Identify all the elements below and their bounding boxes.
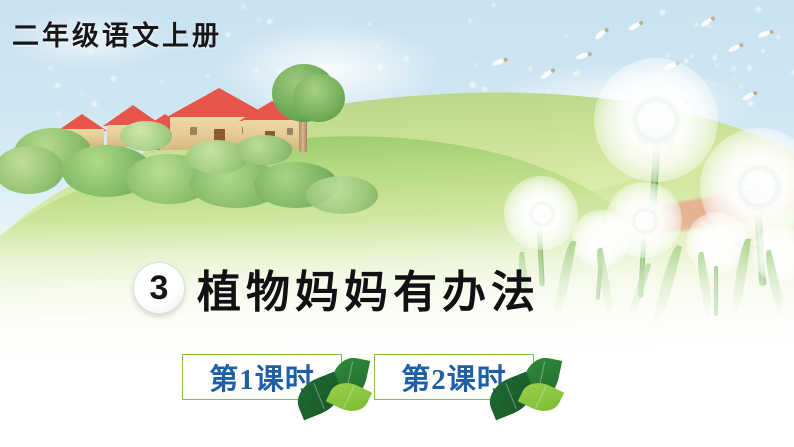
sky-sparkle bbox=[748, 101, 753, 106]
lesson-number-badge: 3 bbox=[133, 262, 185, 314]
sky-sparkle bbox=[55, 83, 60, 88]
sky-sparkle bbox=[377, 64, 382, 69]
seed-body bbox=[503, 57, 508, 62]
seed-body bbox=[769, 29, 774, 34]
bush-icon bbox=[120, 121, 172, 151]
bottom-white-fade bbox=[0, 220, 794, 447]
sky-sparkle bbox=[529, 67, 532, 70]
page-title: 二年级语文上册 bbox=[12, 14, 222, 53]
sky-sparkle bbox=[482, 87, 487, 92]
bush-icon bbox=[306, 176, 378, 214]
sky-sparkle bbox=[267, 19, 272, 24]
sky-sparkle bbox=[492, 3, 496, 7]
window-icon bbox=[287, 128, 293, 135]
dandelion-icon-core bbox=[720, 148, 794, 226]
lesson-period-1-button[interactable]: 第1课时 bbox=[182, 354, 342, 400]
lesson-period-2-label: 第2课时 bbox=[401, 356, 507, 398]
bush-icon bbox=[236, 135, 292, 165]
sky-sparkle bbox=[715, 63, 719, 67]
sky-sparkle bbox=[160, 80, 163, 83]
sky-sparkle bbox=[665, 53, 670, 58]
sky-sparkle bbox=[713, 55, 718, 60]
sky-sparkle bbox=[470, 82, 476, 88]
sky-sparkle bbox=[91, 101, 97, 107]
sky-sparkle bbox=[690, 55, 693, 58]
tree-icon-crown bbox=[293, 74, 345, 122]
seed-body bbox=[587, 52, 592, 57]
sky-sparkle bbox=[475, 63, 478, 66]
sky-sparkle bbox=[48, 66, 52, 70]
sky-sparkle bbox=[777, 35, 781, 39]
lesson-title-row: 3 植物妈妈有办法 bbox=[133, 256, 540, 320]
lesson-period-2-button[interactable]: 第2课时 bbox=[374, 354, 534, 400]
sky-sparkle bbox=[547, 90, 550, 93]
sky-sparkle bbox=[404, 56, 409, 61]
sky-sparkle bbox=[731, 66, 736, 71]
lesson-title: 植物妈妈有办法 bbox=[197, 256, 540, 320]
window-icon bbox=[190, 127, 197, 135]
dandelion-icon-core bbox=[614, 78, 698, 162]
sky-sparkle bbox=[740, 85, 743, 88]
slide-canvas: 二年级语文上册 3 植物妈妈有办法 第1课时 第2课时 bbox=[0, 0, 794, 447]
sky-sparkle bbox=[111, 76, 115, 80]
sky-sparkle bbox=[215, 80, 217, 82]
lesson-period-1-label: 第1课时 bbox=[209, 356, 315, 398]
sky-sparkle bbox=[406, 62, 408, 64]
